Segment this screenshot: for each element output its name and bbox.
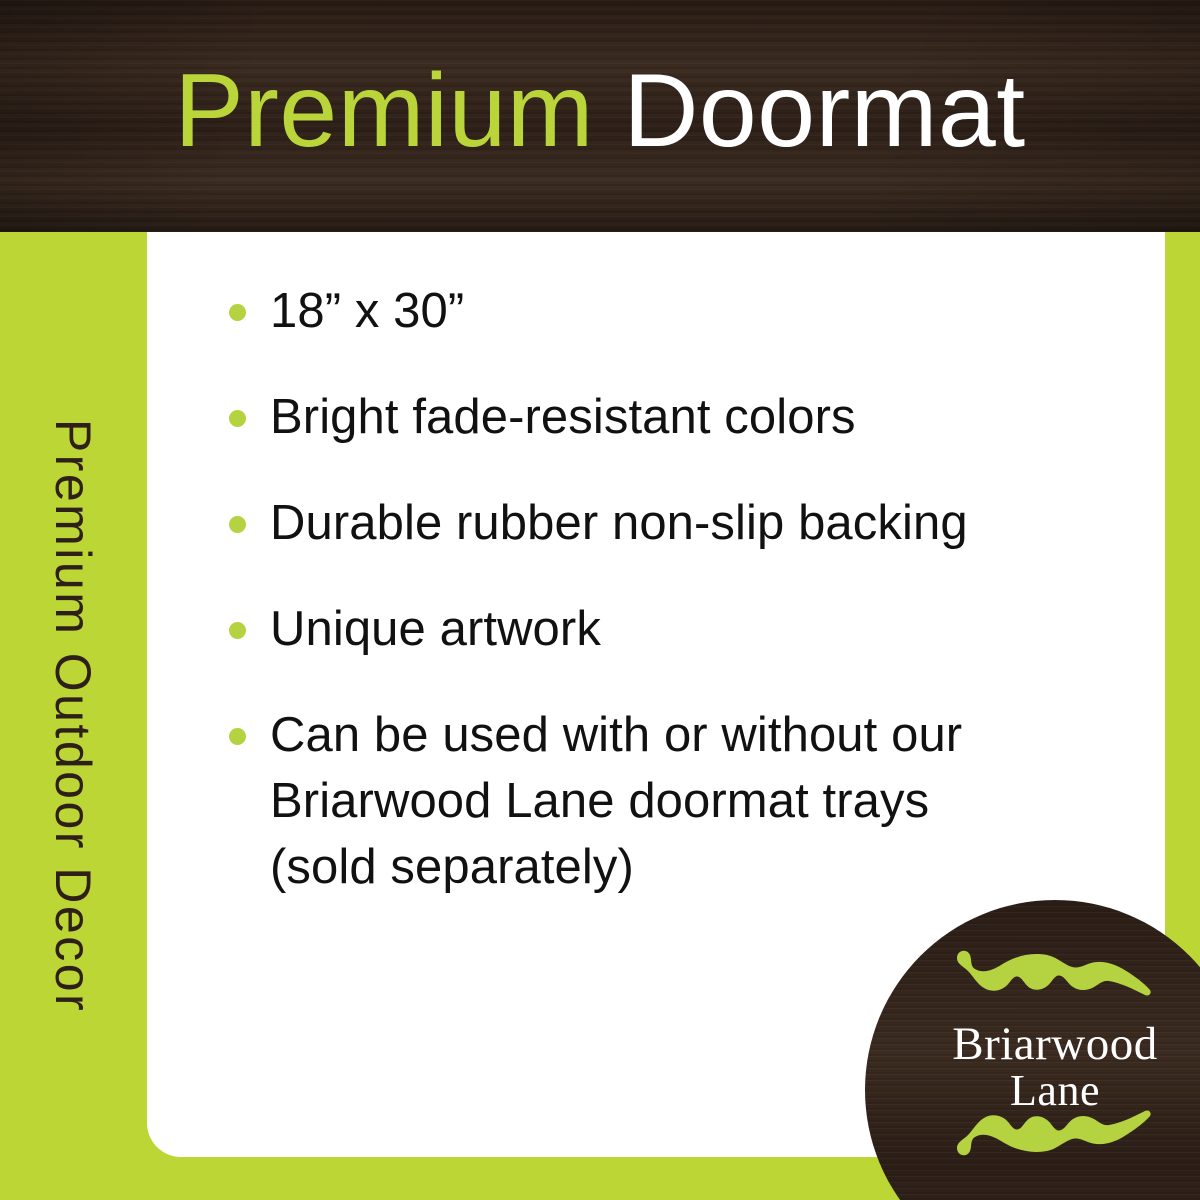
list-item-line: Bright fade-resistant colors xyxy=(270,384,1145,450)
sidebar-banner: Premium Outdoor Decor xyxy=(0,232,146,1200)
list-item: Durable rubber non-slip backing xyxy=(147,490,1165,556)
list-item-text: Unique artwork xyxy=(270,596,1145,662)
list-item-line: Durable rubber non-slip backing xyxy=(270,490,1145,556)
brand-logo-inner: Briarwood Lane xyxy=(865,900,1200,1200)
page-title-main: Doormat xyxy=(623,53,1025,169)
bullet-icon xyxy=(229,622,246,639)
bullet-icon xyxy=(229,410,246,427)
page-title-accent: Premium xyxy=(174,53,623,169)
bullet-icon xyxy=(229,516,246,533)
page-title: Premium Doormat xyxy=(0,52,1200,170)
list-item-text: 18” x 30” xyxy=(270,278,1145,344)
list-item: Unique artwork xyxy=(147,596,1165,662)
header-banner: Premium Doormat xyxy=(0,0,1200,232)
list-item-text: Bright fade-resistant colors xyxy=(270,384,1145,450)
list-item-line: 18” x 30” xyxy=(270,278,1145,344)
list-item-line: Unique artwork xyxy=(270,596,1145,662)
list-item: Can be used with or without our Briarwoo… xyxy=(147,702,1165,900)
bullet-icon xyxy=(229,728,246,745)
list-item: Bright fade-resistant colors xyxy=(147,384,1165,450)
brand-name-primary: Briarwood xyxy=(865,1018,1200,1070)
feature-list: 18” x 30” Bright fade-resistant colors D… xyxy=(147,278,1165,900)
list-item-text: Can be used with or without our Briarwoo… xyxy=(270,702,1145,900)
list-item-line: (sold separately) xyxy=(270,834,1145,900)
list-item-text: Durable rubber non-slip backing xyxy=(270,490,1145,556)
bullet-icon xyxy=(229,304,246,321)
sidebar-label: Premium Outdoor Decor xyxy=(45,419,101,1013)
list-item-line: Can be used with or without our xyxy=(270,702,1145,768)
list-item-line: Briarwood Lane doormat trays xyxy=(270,768,1145,834)
leaf-sprig-icon xyxy=(953,1098,1153,1160)
list-item: 18” x 30” xyxy=(147,278,1165,344)
product-infographic: Premium Doormat Premium Outdoor Decor 18… xyxy=(0,0,1200,1200)
brand-logo-badge: Briarwood Lane xyxy=(865,900,1200,1200)
leaf-sprig-icon xyxy=(953,946,1153,1008)
